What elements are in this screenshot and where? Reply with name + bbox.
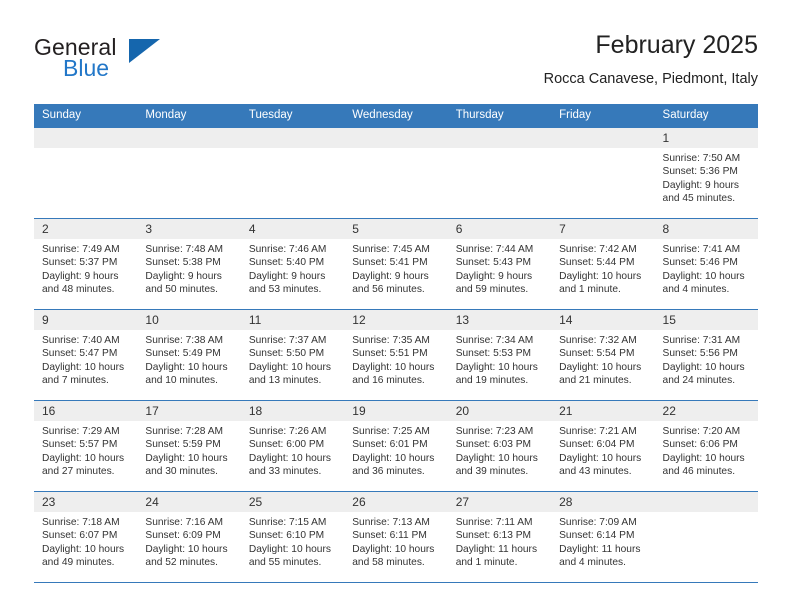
day-cell-empty (655, 492, 758, 583)
day-number: 25 (241, 492, 344, 512)
day-number: 14 (551, 310, 654, 330)
sunset-text: Sunset: 6:14 PM (559, 529, 648, 542)
day-number: 27 (448, 492, 551, 512)
day-info: Sunrise: 7:26 AMSunset: 6:00 PMDaylight:… (241, 421, 344, 479)
day-cell-empty (448, 128, 551, 219)
title-block: February 2025 Rocca Canavese, Piedmont, … (544, 30, 758, 89)
sunrise-text: Sunrise: 7:44 AM (456, 243, 545, 256)
day-number: 2 (34, 219, 137, 239)
daylight-text: Daylight: 10 hours and 33 minutes. (249, 452, 338, 479)
day-info: Sunrise: 7:20 AMSunset: 6:06 PMDaylight:… (655, 421, 758, 479)
daylight-text: Daylight: 10 hours and 7 minutes. (42, 361, 131, 388)
sunrise-text: Sunrise: 7:38 AM (145, 334, 234, 347)
day-cell[interactable]: 22Sunrise: 7:20 AMSunset: 6:06 PMDayligh… (655, 401, 758, 492)
daylight-text: Daylight: 10 hours and 52 minutes. (145, 543, 234, 570)
sunrise-text: Sunrise: 7:31 AM (663, 334, 752, 347)
sunset-text: Sunset: 5:36 PM (663, 165, 752, 178)
day-info: Sunrise: 7:11 AMSunset: 6:13 PMDaylight:… (448, 512, 551, 570)
day-number: 28 (551, 492, 654, 512)
day-info: Sunrise: 7:37 AMSunset: 5:50 PMDaylight:… (241, 330, 344, 388)
day-cell[interactable]: 11Sunrise: 7:37 AMSunset: 5:50 PMDayligh… (241, 310, 344, 401)
sunrise-text: Sunrise: 7:25 AM (352, 425, 441, 438)
sunset-text: Sunset: 6:10 PM (249, 529, 338, 542)
sunrise-text: Sunrise: 7:34 AM (456, 334, 545, 347)
sunset-text: Sunset: 6:03 PM (456, 438, 545, 451)
sunrise-text: Sunrise: 7:32 AM (559, 334, 648, 347)
daylight-text: Daylight: 10 hours and 27 minutes. (42, 452, 131, 479)
calendar-grid-container: SundayMondayTuesdayWednesdayThursdayFrid… (34, 104, 758, 585)
day-number: 1 (655, 128, 758, 148)
calendar-week-row: 1Sunrise: 7:50 AMSunset: 5:36 PMDaylight… (34, 128, 758, 219)
daylight-text: Daylight: 10 hours and 24 minutes. (663, 361, 752, 388)
day-cell[interactable]: 9Sunrise: 7:40 AMSunset: 5:47 PMDaylight… (34, 310, 137, 401)
day-cell[interactable]: 7Sunrise: 7:42 AMSunset: 5:44 PMDaylight… (551, 219, 654, 310)
daylight-text: Daylight: 10 hours and 19 minutes. (456, 361, 545, 388)
weekday-header-row: SundayMondayTuesdayWednesdayThursdayFrid… (34, 104, 758, 128)
day-info: Sunrise: 7:21 AMSunset: 6:04 PMDaylight:… (551, 421, 654, 479)
day-cell[interactable]: 4Sunrise: 7:46 AMSunset: 5:40 PMDaylight… (241, 219, 344, 310)
day-number: 23 (34, 492, 137, 512)
day-cell[interactable]: 1Sunrise: 7:50 AMSunset: 5:36 PMDaylight… (655, 128, 758, 219)
day-cell[interactable]: 5Sunrise: 7:45 AMSunset: 5:41 PMDaylight… (344, 219, 447, 310)
daylight-text: Daylight: 10 hours and 16 minutes. (352, 361, 441, 388)
day-cell[interactable]: 2Sunrise: 7:49 AMSunset: 5:37 PMDaylight… (34, 219, 137, 310)
weekday-header-thursday: Thursday (448, 104, 551, 128)
day-info: Sunrise: 7:35 AMSunset: 5:51 PMDaylight:… (344, 330, 447, 388)
sunrise-text: Sunrise: 7:16 AM (145, 516, 234, 529)
day-info: Sunrise: 7:44 AMSunset: 5:43 PMDaylight:… (448, 239, 551, 297)
brand-name-blue: Blue (63, 55, 109, 82)
calendar-page: General Blue February 2025 Rocca Canaves… (0, 0, 792, 612)
sunset-text: Sunset: 5:53 PM (456, 347, 545, 360)
sunset-text: Sunset: 5:43 PM (456, 256, 545, 269)
daylight-text: Daylight: 9 hours and 56 minutes. (352, 270, 441, 297)
sunrise-text: Sunrise: 7:11 AM (456, 516, 545, 529)
weekday-header-tuesday: Tuesday (241, 104, 344, 128)
daylight-text: Daylight: 11 hours and 1 minute. (456, 543, 545, 570)
day-info: Sunrise: 7:40 AMSunset: 5:47 PMDaylight:… (34, 330, 137, 388)
grid-bottom-rule (34, 583, 758, 586)
daylight-text: Daylight: 10 hours and 1 minute. (559, 270, 648, 297)
daylight-text: Daylight: 9 hours and 50 minutes. (145, 270, 234, 297)
day-info: Sunrise: 7:18 AMSunset: 6:07 PMDaylight:… (34, 512, 137, 570)
sunset-text: Sunset: 5:40 PM (249, 256, 338, 269)
sunrise-text: Sunrise: 7:13 AM (352, 516, 441, 529)
sunset-text: Sunset: 6:04 PM (559, 438, 648, 451)
sunrise-text: Sunrise: 7:09 AM (559, 516, 648, 529)
sunset-text: Sunset: 6:09 PM (145, 529, 234, 542)
day-info: Sunrise: 7:28 AMSunset: 5:59 PMDaylight:… (137, 421, 240, 479)
day-cell-empty (551, 128, 654, 219)
day-cell[interactable]: 25Sunrise: 7:15 AMSunset: 6:10 PMDayligh… (241, 492, 344, 583)
weekday-header-monday: Monday (137, 104, 240, 128)
day-number-placeholder (241, 128, 344, 148)
sunset-text: Sunset: 5:37 PM (42, 256, 131, 269)
day-number: 24 (137, 492, 240, 512)
sunset-text: Sunset: 6:11 PM (352, 529, 441, 542)
sunrise-text: Sunrise: 7:50 AM (663, 152, 752, 165)
sunset-text: Sunset: 5:47 PM (42, 347, 131, 360)
daylight-text: Daylight: 10 hours and 46 minutes. (663, 452, 752, 479)
page-header: General Blue February 2025 Rocca Canaves… (0, 0, 792, 104)
day-number: 21 (551, 401, 654, 421)
day-number: 26 (344, 492, 447, 512)
brand-triangle-icon (129, 39, 160, 63)
day-info: Sunrise: 7:29 AMSunset: 5:57 PMDaylight:… (34, 421, 137, 479)
day-cell[interactable]: 6Sunrise: 7:44 AMSunset: 5:43 PMDaylight… (448, 219, 551, 310)
sunset-text: Sunset: 5:44 PM (559, 256, 648, 269)
sunrise-text: Sunrise: 7:42 AM (559, 243, 648, 256)
calendar-week-row: 16Sunrise: 7:29 AMSunset: 5:57 PMDayligh… (34, 401, 758, 492)
day-number: 16 (34, 401, 137, 421)
sunset-text: Sunset: 5:41 PM (352, 256, 441, 269)
day-cell[interactable]: 14Sunrise: 7:32 AMSunset: 5:54 PMDayligh… (551, 310, 654, 401)
page-subtitle: Rocca Canavese, Piedmont, Italy (544, 69, 758, 89)
day-info: Sunrise: 7:15 AMSunset: 6:10 PMDaylight:… (241, 512, 344, 570)
day-info: Sunrise: 7:25 AMSunset: 6:01 PMDaylight:… (344, 421, 447, 479)
day-info: Sunrise: 7:49 AMSunset: 5:37 PMDaylight:… (34, 239, 137, 297)
day-number-placeholder (448, 128, 551, 148)
sunset-text: Sunset: 6:01 PM (352, 438, 441, 451)
day-cell[interactable]: 23Sunrise: 7:18 AMSunset: 6:07 PMDayligh… (34, 492, 137, 583)
daylight-text: Daylight: 11 hours and 4 minutes. (559, 543, 648, 570)
day-info: Sunrise: 7:13 AMSunset: 6:11 PMDaylight:… (344, 512, 447, 570)
sunrise-text: Sunrise: 7:48 AM (145, 243, 234, 256)
daylight-text: Daylight: 10 hours and 43 minutes. (559, 452, 648, 479)
sunrise-text: Sunrise: 7:28 AM (145, 425, 234, 438)
daylight-text: Daylight: 10 hours and 30 minutes. (145, 452, 234, 479)
calendar-footer (34, 583, 758, 586)
day-number: 8 (655, 219, 758, 239)
calendar-table: SundayMondayTuesdayWednesdayThursdayFrid… (34, 104, 758, 585)
day-number-placeholder (34, 128, 137, 148)
calendar-week-row: 9Sunrise: 7:40 AMSunset: 5:47 PMDaylight… (34, 310, 758, 401)
day-number-placeholder (137, 128, 240, 148)
day-number: 7 (551, 219, 654, 239)
sunrise-text: Sunrise: 7:45 AM (352, 243, 441, 256)
daylight-text: Daylight: 10 hours and 13 minutes. (249, 361, 338, 388)
day-number: 15 (655, 310, 758, 330)
day-number: 3 (137, 219, 240, 239)
day-info: Sunrise: 7:46 AMSunset: 5:40 PMDaylight:… (241, 239, 344, 297)
day-cell[interactable]: 13Sunrise: 7:34 AMSunset: 5:53 PMDayligh… (448, 310, 551, 401)
day-number: 20 (448, 401, 551, 421)
day-info: Sunrise: 7:41 AMSunset: 5:46 PMDaylight:… (655, 239, 758, 297)
day-number: 18 (241, 401, 344, 421)
day-cell[interactable]: 12Sunrise: 7:35 AMSunset: 5:51 PMDayligh… (344, 310, 447, 401)
sunrise-text: Sunrise: 7:37 AM (249, 334, 338, 347)
calendar-header-row: SundayMondayTuesdayWednesdayThursdayFrid… (34, 104, 758, 128)
day-number: 22 (655, 401, 758, 421)
sunrise-text: Sunrise: 7:26 AM (249, 425, 338, 438)
sunset-text: Sunset: 5:50 PM (249, 347, 338, 360)
day-cell[interactable]: 20Sunrise: 7:23 AMSunset: 6:03 PMDayligh… (448, 401, 551, 492)
day-cell[interactable]: 15Sunrise: 7:31 AMSunset: 5:56 PMDayligh… (655, 310, 758, 401)
day-cell[interactable]: 26Sunrise: 7:13 AMSunset: 6:11 PMDayligh… (344, 492, 447, 583)
day-cell[interactable]: 17Sunrise: 7:28 AMSunset: 5:59 PMDayligh… (137, 401, 240, 492)
calendar-body: 1Sunrise: 7:50 AMSunset: 5:36 PMDaylight… (34, 128, 758, 583)
daylight-text: Daylight: 9 hours and 53 minutes. (249, 270, 338, 297)
weekday-header-saturday: Saturday (655, 104, 758, 128)
sunset-text: Sunset: 5:57 PM (42, 438, 131, 451)
sunrise-text: Sunrise: 7:40 AM (42, 334, 131, 347)
daylight-text: Daylight: 10 hours and 36 minutes. (352, 452, 441, 479)
daylight-text: Daylight: 9 hours and 59 minutes. (456, 270, 545, 297)
daylight-text: Daylight: 9 hours and 48 minutes. (42, 270, 131, 297)
daylight-text: Daylight: 10 hours and 58 minutes. (352, 543, 441, 570)
day-number: 13 (448, 310, 551, 330)
day-info: Sunrise: 7:38 AMSunset: 5:49 PMDaylight:… (137, 330, 240, 388)
day-info: Sunrise: 7:42 AMSunset: 5:44 PMDaylight:… (551, 239, 654, 297)
day-number: 12 (344, 310, 447, 330)
day-number: 4 (241, 219, 344, 239)
day-number: 6 (448, 219, 551, 239)
day-info: Sunrise: 7:09 AMSunset: 6:14 PMDaylight:… (551, 512, 654, 570)
sunset-text: Sunset: 5:51 PM (352, 347, 441, 360)
weekday-header-sunday: Sunday (34, 104, 137, 128)
sunset-text: Sunset: 5:56 PM (663, 347, 752, 360)
day-cell[interactable]: 21Sunrise: 7:21 AMSunset: 6:04 PMDayligh… (551, 401, 654, 492)
sunset-text: Sunset: 6:00 PM (249, 438, 338, 451)
day-cell-empty (34, 128, 137, 219)
day-cell[interactable]: 27Sunrise: 7:11 AMSunset: 6:13 PMDayligh… (448, 492, 551, 583)
day-info: Sunrise: 7:34 AMSunset: 5:53 PMDaylight:… (448, 330, 551, 388)
day-number-placeholder (344, 128, 447, 148)
daylight-text: Daylight: 10 hours and 39 minutes. (456, 452, 545, 479)
sunrise-text: Sunrise: 7:49 AM (42, 243, 131, 256)
day-cell[interactable]: 28Sunrise: 7:09 AMSunset: 6:14 PMDayligh… (551, 492, 654, 583)
day-info: Sunrise: 7:23 AMSunset: 6:03 PMDaylight:… (448, 421, 551, 479)
day-info: Sunrise: 7:45 AMSunset: 5:41 PMDaylight:… (344, 239, 447, 297)
brand-logo[interactable]: General Blue (34, 34, 234, 90)
page-title: February 2025 (544, 30, 758, 60)
daylight-text: Daylight: 9 hours and 45 minutes. (663, 179, 752, 206)
sunrise-text: Sunrise: 7:29 AM (42, 425, 131, 438)
day-cell[interactable]: 24Sunrise: 7:16 AMSunset: 6:09 PMDayligh… (137, 492, 240, 583)
day-cell[interactable]: 19Sunrise: 7:25 AMSunset: 6:01 PMDayligh… (344, 401, 447, 492)
day-number-placeholder (655, 492, 758, 512)
sunset-text: Sunset: 6:06 PM (663, 438, 752, 451)
day-info: Sunrise: 7:50 AMSunset: 5:36 PMDaylight:… (655, 148, 758, 206)
sunset-text: Sunset: 5:59 PM (145, 438, 234, 451)
sunrise-text: Sunrise: 7:18 AM (42, 516, 131, 529)
day-number: 17 (137, 401, 240, 421)
day-number: 11 (241, 310, 344, 330)
sunrise-text: Sunrise: 7:35 AM (352, 334, 441, 347)
calendar-week-row: 23Sunrise: 7:18 AMSunset: 6:07 PMDayligh… (34, 492, 758, 583)
day-cell-empty (137, 128, 240, 219)
sunset-text: Sunset: 6:07 PM (42, 529, 131, 542)
sunset-text: Sunset: 5:46 PM (663, 256, 752, 269)
daylight-text: Daylight: 10 hours and 49 minutes. (42, 543, 131, 570)
sunset-text: Sunset: 6:13 PM (456, 529, 545, 542)
day-info: Sunrise: 7:32 AMSunset: 5:54 PMDaylight:… (551, 330, 654, 388)
sunrise-text: Sunrise: 7:23 AM (456, 425, 545, 438)
day-info: Sunrise: 7:48 AMSunset: 5:38 PMDaylight:… (137, 239, 240, 297)
sunset-text: Sunset: 5:54 PM (559, 347, 648, 360)
calendar-week-row: 2Sunrise: 7:49 AMSunset: 5:37 PMDaylight… (34, 219, 758, 310)
day-cell[interactable]: 16Sunrise: 7:29 AMSunset: 5:57 PMDayligh… (34, 401, 137, 492)
day-number: 19 (344, 401, 447, 421)
sunrise-text: Sunrise: 7:46 AM (249, 243, 338, 256)
weekday-header-wednesday: Wednesday (344, 104, 447, 128)
day-info: Sunrise: 7:31 AMSunset: 5:56 PMDaylight:… (655, 330, 758, 388)
day-cell[interactable]: 18Sunrise: 7:26 AMSunset: 6:00 PMDayligh… (241, 401, 344, 492)
daylight-text: Daylight: 10 hours and 55 minutes. (249, 543, 338, 570)
sunset-text: Sunset: 5:49 PM (145, 347, 234, 360)
day-cell-empty (344, 128, 447, 219)
daylight-text: Daylight: 10 hours and 4 minutes. (663, 270, 752, 297)
day-number-placeholder (551, 128, 654, 148)
sunset-text: Sunset: 5:38 PM (145, 256, 234, 269)
sunrise-text: Sunrise: 7:15 AM (249, 516, 338, 529)
day-cell-empty (241, 128, 344, 219)
day-cell[interactable]: 10Sunrise: 7:38 AMSunset: 5:49 PMDayligh… (137, 310, 240, 401)
sunrise-text: Sunrise: 7:21 AM (559, 425, 648, 438)
weekday-header-friday: Friday (551, 104, 654, 128)
sunrise-text: Sunrise: 7:20 AM (663, 425, 752, 438)
day-number: 10 (137, 310, 240, 330)
day-info: Sunrise: 7:16 AMSunset: 6:09 PMDaylight:… (137, 512, 240, 570)
daylight-text: Daylight: 10 hours and 21 minutes. (559, 361, 648, 388)
day-cell[interactable]: 3Sunrise: 7:48 AMSunset: 5:38 PMDaylight… (137, 219, 240, 310)
daylight-text: Daylight: 10 hours and 10 minutes. (145, 361, 234, 388)
sunrise-text: Sunrise: 7:41 AM (663, 243, 752, 256)
day-number: 9 (34, 310, 137, 330)
day-number: 5 (344, 219, 447, 239)
day-cell[interactable]: 8Sunrise: 7:41 AMSunset: 5:46 PMDaylight… (655, 219, 758, 310)
